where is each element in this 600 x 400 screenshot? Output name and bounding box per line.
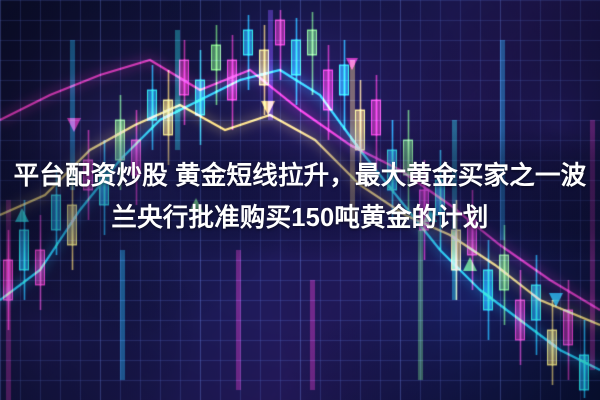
news-cover-image: 平台配资炒股 黄金短线拉升，最大黄金买家之一波 兰央行批准购买150吨黄金的计划 bbox=[0, 0, 600, 400]
financial-chart-background bbox=[0, 0, 600, 400]
